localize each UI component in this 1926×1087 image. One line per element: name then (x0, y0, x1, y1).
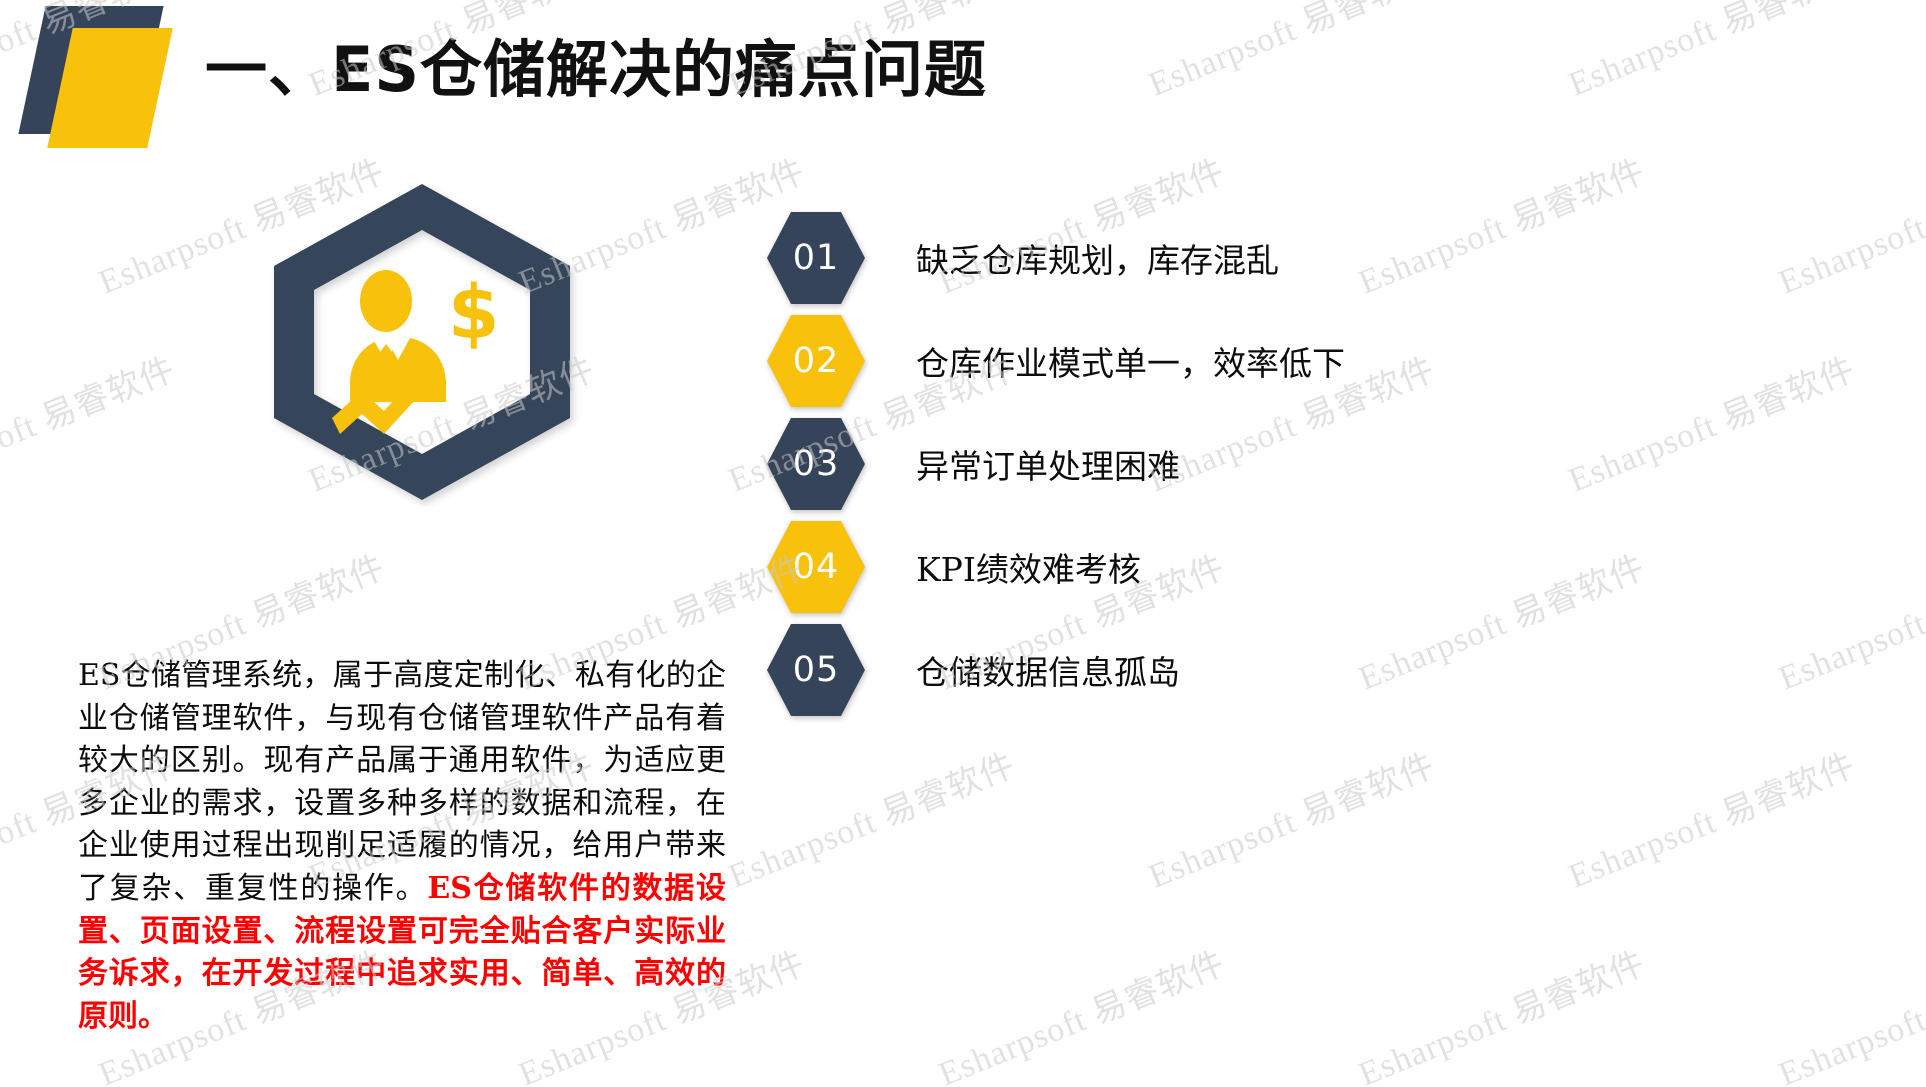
pain-point-label: 异常订单处理困难 (916, 440, 1180, 488)
hexagon-badge-05: 05 (766, 622, 866, 718)
watermark-text: Esharpsoft 易睿软件 (720, 738, 1021, 898)
list-item[interactable]: 05 仓储数据信息孤岛 (766, 618, 1826, 721)
watermark-text: Esharpsoft 易睿软件 (1560, 0, 1861, 105)
emblem-hexagon: $ (262, 178, 582, 506)
watermark-text: Esharpsoft 易睿软件 (1140, 0, 1441, 105)
pain-point-number: 03 (766, 416, 866, 512)
pain-point-label: 缺乏仓库规划，库存混乱 (916, 234, 1279, 282)
watermark-text: Esharpsoft 易睿软件 (1560, 738, 1861, 898)
pain-point-number: 05 (766, 622, 866, 718)
page-title: 一、ES仓储解决的痛点问题 (205, 36, 987, 104)
pain-point-label: KPI绩效难考核 (916, 543, 1141, 591)
watermark-text: Esharpsoft 易睿软件 (1140, 738, 1441, 898)
description-paragraph: ES仓储管理系统，属于高度定制化、私有化的企业仓储管理软件，与现有仓储管理软件产… (78, 655, 726, 1038)
watermark-text: Esharpsoft 易睿软件 (1350, 936, 1651, 1087)
list-item[interactable]: 02 仓库作业模式单一，效率低下 (766, 309, 1826, 412)
pain-point-label: 仓储数据信息孤岛 (916, 646, 1180, 694)
hexagon-badge-04: 04 (766, 519, 866, 615)
description-plain: ES仓储管理系统，属于高度定制化、私有化的企业仓储管理软件，与现有仓储管理软件产… (78, 658, 726, 906)
watermark-text: Esharpsoft 易睿软件 (0, 342, 181, 502)
dollar-sign-icon: $ (448, 270, 500, 356)
list-item[interactable]: 04 KPI绩效难考核 (766, 515, 1826, 618)
watermark-text: Esharpsoft 易睿软件 (930, 936, 1231, 1087)
hexagon-badge-03: 03 (766, 416, 866, 512)
pain-point-number: 04 (766, 519, 866, 615)
list-item[interactable]: 01 缺乏仓库规划，库存混乱 (766, 206, 1826, 309)
pain-point-label: 仓库作业模式单一，效率低下 (916, 337, 1345, 385)
businessman-dollar-growth-icon: $ (332, 270, 500, 434)
hexagon-badge-02: 02 (766, 313, 866, 409)
list-item[interactable]: 03 异常订单处理困难 (766, 412, 1826, 515)
pain-point-number: 02 (766, 313, 866, 409)
watermark-text: Esharpsoft 易睿软件 (1770, 936, 1926, 1087)
svg-text:$: $ (448, 270, 500, 356)
hexagon-outline-icon (274, 184, 570, 500)
pain-point-number: 01 (766, 210, 866, 306)
slide-canvas: 一、ES仓储解决的痛点问题 (0, 0, 1926, 1087)
pain-point-list: 01 缺乏仓库规划，库存混乱 02 仓库作业模式单一，效率低下 03 异常订单处… (766, 206, 1826, 721)
hexagon-badge-01: 01 (766, 210, 866, 306)
